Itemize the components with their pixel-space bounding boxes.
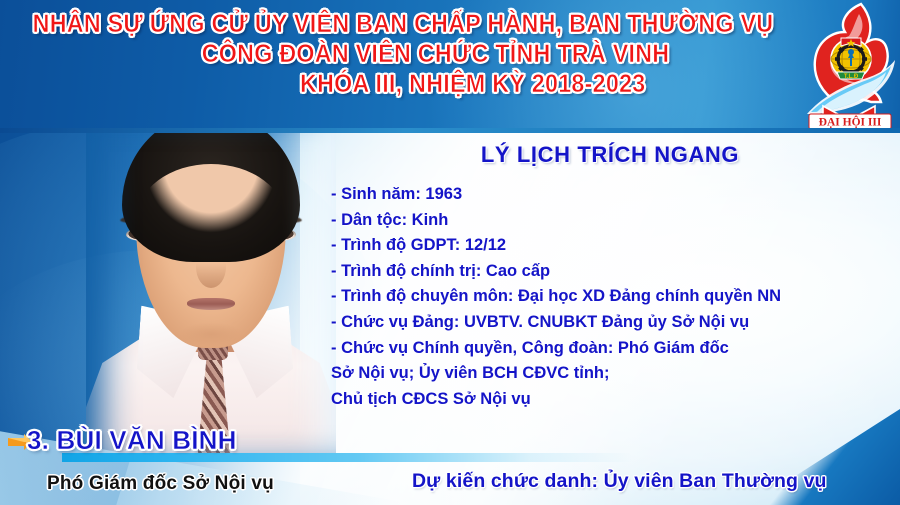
profile-line-ethnicity: - Dân tộc: Kinh [331, 208, 891, 234]
portrait-chin [179, 322, 243, 346]
svg-text:T.L.Đ: T.L.Đ [844, 74, 859, 80]
portrait-illustration [86, 96, 336, 456]
profile-line-government-position-cont1: Sở Nội vụ; Ủy viên BCH CĐVC tỉnh; [331, 361, 891, 387]
portrait-hair [122, 112, 300, 262]
profile-line-government-position: - Chức vụ Chính quyền, Công đoàn: Phó Gi… [331, 336, 891, 362]
portrait-mouth [187, 298, 235, 310]
congress-emblem-icon: T.L.Đ ĐẠI HỘI III [801, 2, 897, 131]
profile-line-government-position-cont2: Chủ tịch CĐCS Sở Nội vụ [331, 387, 891, 413]
profile-line-political-level: - Trình độ chính trị: Cao cấp [331, 259, 891, 285]
candidate-photo [86, 96, 336, 456]
profile-line-professional-level: - Trình độ chuyên môn: Đại học XD Đảng c… [331, 284, 891, 310]
candidate-name: 3. BÙI VĂN BÌNH [27, 425, 237, 456]
header-title-group: NHÂN SỰ ỨNG CỬ ỦY VIÊN BAN CHẤP HÀNH, BA… [0, 12, 806, 97]
header-title-line2: CÔNG ĐOÀN VIÊN CHỨC TỈNH TRÀ VINH [28, 42, 778, 72]
header-banner: NHÂN SỰ ỨNG CỬ ỦY VIÊN BAN CHẤP HÀNH, BA… [0, 0, 900, 133]
candidate-role: Phó Giám đốc Sở Nội vụ [47, 473, 274, 495]
candidate-profile-poster: NHÂN SỰ ỨNG CỬ ỦY VIÊN BAN CHẤP HÀNH, BA… [0, 0, 900, 505]
profile-line-party-position: - Chức vụ Đảng: UVBTV. CNUBKT Đảng ủy Sở… [331, 310, 891, 336]
header-title-line3: KHÓA III, NHIỆM KỲ 2018-2023 [28, 72, 778, 97]
expected-position-text: Dự kiến chức danh: Ủy viên Ban Thường vụ [412, 470, 827, 493]
header-title-line1: NHÂN SỰ ỨNG CỬ ỦY VIÊN BAN CHẤP HÀNH, BA… [28, 12, 778, 42]
profile-line-education: - Trình độ GDPT: 12/12 [331, 233, 891, 259]
profile-line-birthyear: - Sinh năm: 1963 [331, 182, 891, 208]
emblem-banner-text: ĐẠI HỘI III [819, 115, 882, 129]
profile-details-list: - Sinh năm: 1963 - Dân tộc: Kinh - Trình… [331, 182, 891, 412]
page-title: LÝ LỊCH TRÍCH NGANG [330, 142, 890, 168]
